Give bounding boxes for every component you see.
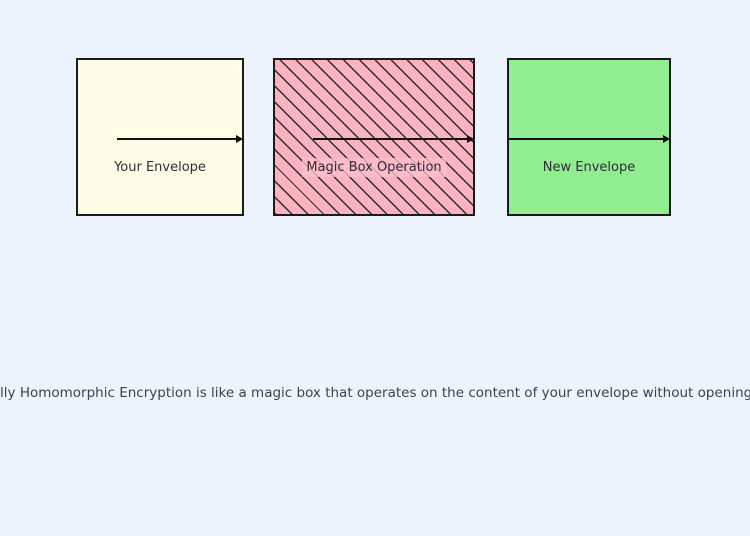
box-output-envelope[interactable]: New Envelope — [507, 58, 671, 216]
diagonal-hatch-pattern — [275, 60, 473, 214]
box-output-envelope-label: New Envelope — [509, 158, 669, 177]
arrow-shaft — [117, 138, 237, 140]
box-input-envelope[interactable]: Your Envelope — [76, 58, 244, 216]
right-arrow-icon — [509, 134, 671, 143]
arrow-head — [236, 135, 243, 143]
diagram-caption: Fully Homomorphic Encryption is like a m… — [0, 384, 750, 403]
arrow-head — [663, 135, 670, 143]
box-magic-box-operation-label: Magic Box Operation — [275, 158, 473, 177]
diagram-canvas: Your Envelope Magic Box Operation New En… — [0, 0, 750, 536]
box-input-envelope-label: Your Envelope — [78, 158, 242, 177]
right-arrow-icon — [117, 134, 244, 143]
box-magic-box-operation[interactable]: Magic Box Operation — [273, 58, 475, 216]
arrow-head — [467, 135, 474, 143]
right-arrow-icon — [313, 134, 475, 143]
arrow-shaft — [313, 138, 468, 140]
arrow-shaft — [509, 138, 664, 140]
